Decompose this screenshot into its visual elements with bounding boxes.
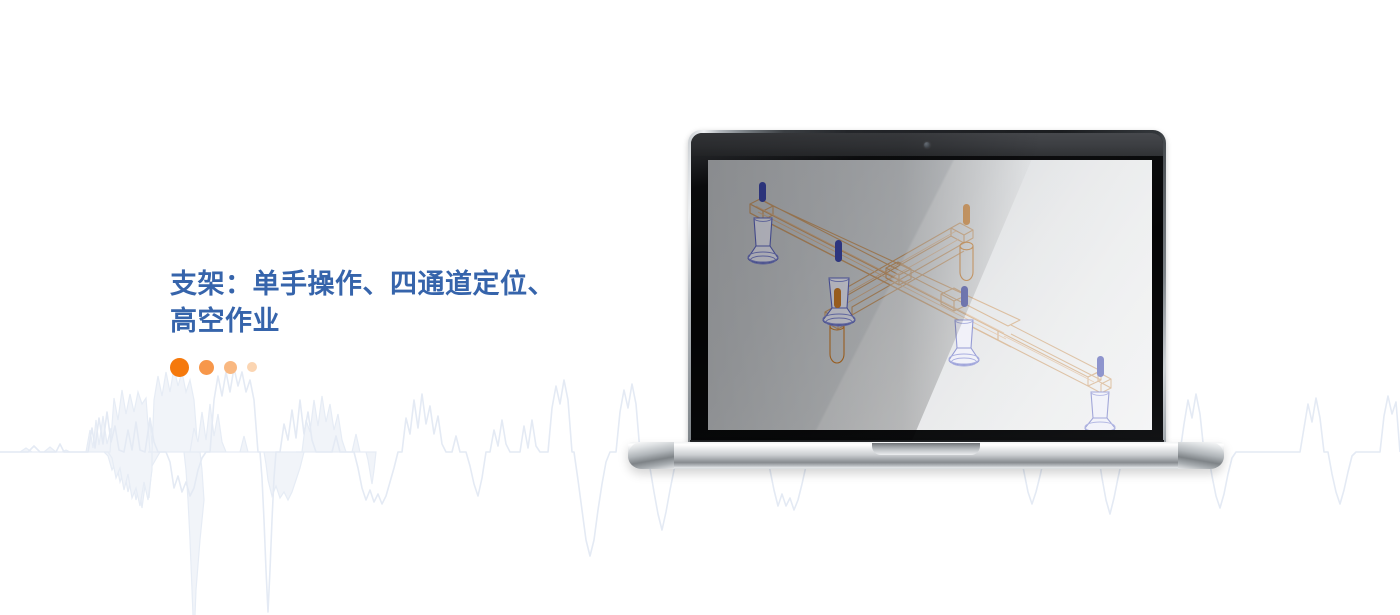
laptop-lid: .fr { fill:none; stroke:#c89a6a; stroke-… [688,130,1166,450]
cross-bracket-technical-drawing: .fr { fill:none; stroke:#c89a6a; stroke-… [708,160,1152,430]
hero-banner: 支架：单手操作、四通道定位、 高空作业 .fr { fill: [0,0,1400,615]
suction-foot-4 [1085,356,1115,430]
orange-pin-1 [963,204,970,225]
laptop-base [628,442,1224,469]
carousel-dot-2[interactable] [199,360,214,375]
carousel-dot-1[interactable] [170,358,189,377]
carousel-dot-4[interactable] [247,362,257,372]
hero-text-block: 支架：单手操作、四通道定位、 高空作业 [170,266,590,378]
laptop-top-bezel [691,133,1163,156]
laptop-screen: .fr { fill:none; stroke:#c89a6a; stroke-… [708,160,1152,430]
orange-pin-2 [834,288,841,308]
laptop-mockup: .fr { fill:none; stroke:#c89a6a; stroke-… [628,130,1224,475]
suction-foot-1 [748,182,778,264]
carousel-dots[interactable] [170,356,590,378]
webcam-icon [924,142,930,148]
page-title: 支架：单手操作、四通道定位、 高空作业 [170,266,590,340]
carousel-dot-3[interactable] [224,361,237,374]
laptop-bezel: .fr { fill:none; stroke:#c89a6a; stroke-… [691,133,1163,447]
laptop-front-notch [872,443,980,455]
